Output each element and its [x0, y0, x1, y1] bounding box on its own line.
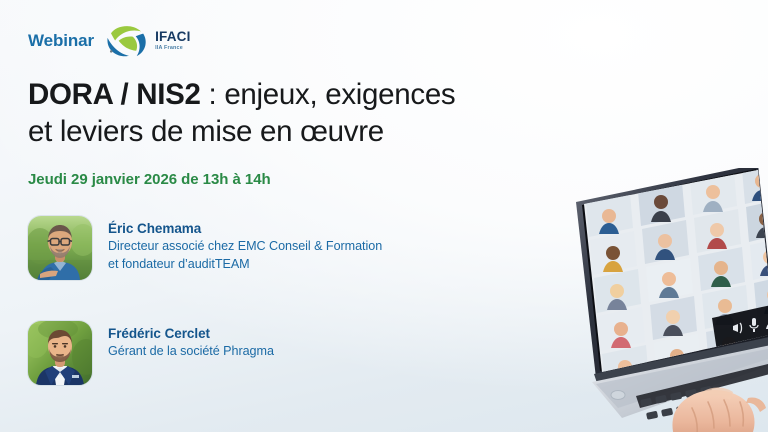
webinar-label: Webinar [28, 31, 94, 51]
ifaci-logo-tagline: IIA France [155, 46, 191, 51]
headline-rest-line1: : enjeux, exigences [201, 78, 456, 111]
event-date: Jeudi 29 janvier 2026 de 13h à 14h [28, 171, 271, 188]
page-title: DORA / NIS2 : enjeux, exigences et levie… [28, 76, 568, 150]
headline-line2: et leviers de mise en œuvre [28, 115, 384, 148]
speaker-role-line2: et fondateur d’auditTEAM [108, 256, 382, 274]
webinar-poster: Webinar IFACI IIA France DORA / NIS2 : e… [0, 0, 768, 432]
speaker-photo-eric-chemama-icon [28, 216, 92, 280]
speaker-name: Frédéric Cerclet [108, 325, 274, 343]
list-item: Frédéric Cerclet Gérant de la société Ph… [28, 321, 498, 385]
header: Webinar IFACI IIA France [28, 24, 191, 57]
list-item: Éric Chemama Directeur associé chez EMC … [28, 216, 498, 280]
headline-bold-part: DORA / NIS2 [28, 78, 201, 111]
ifaci-logo: IFACI IIA France [105, 24, 191, 57]
speaker-name: Éric Chemama [108, 220, 382, 238]
ifaci-logo-name: IFACI [155, 30, 191, 44]
speaker-photo-frederic-cerclet-icon [28, 321, 92, 385]
speaker-role-line1: Directeur associé chez EMC Conseil & For… [108, 238, 382, 256]
speaker-list: Éric Chemama Directeur associé chez EMC … [28, 216, 498, 385]
laptop-video-conference-photo-icon [562, 168, 768, 432]
ifaci-globe-logo-icon [105, 24, 149, 57]
speaker-role-line1: Gérant de la société Phragma [108, 343, 274, 361]
